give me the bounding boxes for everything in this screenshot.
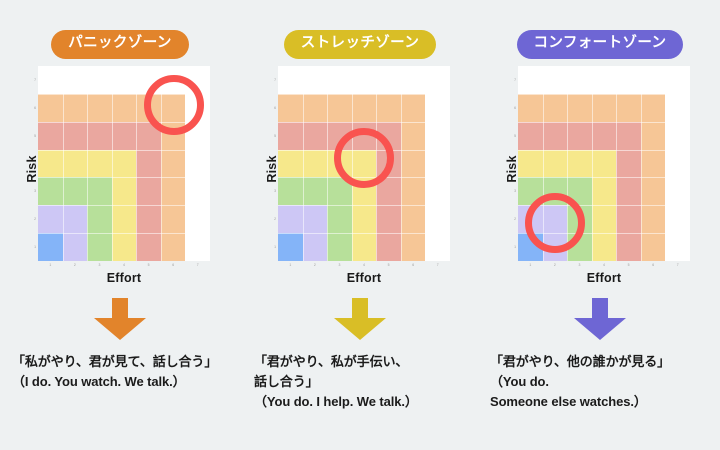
badge-row-comfort: コンフォートゾーン xyxy=(480,30,720,59)
y-axis-ticks: 1234567 xyxy=(504,66,517,261)
arrow-panic xyxy=(0,298,240,340)
x-tick-label: 1 xyxy=(529,263,531,267)
panel-comfort: コンフォートゾーン Risk 1234567 1234567 Effort 「君… xyxy=(480,0,720,450)
infographic-board: パニックゾーン Risk 1234567 1234567 Effort 「私がや… xyxy=(0,0,720,450)
x-tick-label: 7 xyxy=(677,263,679,267)
x-tick-label: 6 xyxy=(172,263,174,267)
x-tick-label: 7 xyxy=(197,263,199,267)
gridline-horizontal xyxy=(518,177,690,178)
gridline-vertical xyxy=(63,66,64,261)
zone-band-blue xyxy=(278,233,303,261)
zone-band-blue xyxy=(38,233,63,261)
y-tick-label: 1 xyxy=(514,245,516,249)
x-tick-label: 3 xyxy=(98,263,100,267)
gridline-vertical xyxy=(303,66,304,261)
down-arrow-icon xyxy=(333,298,387,340)
down-arrow-icon xyxy=(93,298,147,340)
plot-area-stretch xyxy=(278,66,450,261)
gridline-horizontal xyxy=(38,233,210,234)
gridline-vertical xyxy=(592,66,593,261)
panel-panic: パニックゾーン Risk 1234567 1234567 Effort 「私がや… xyxy=(0,0,240,450)
y-tick-label: 5 xyxy=(514,134,516,138)
badge-row-panic: パニックゾーン xyxy=(0,30,240,59)
x-tick-label: 1 xyxy=(289,263,291,267)
x-tick-label: 2 xyxy=(74,263,76,267)
badge-row-stretch: ストレッチゾーン xyxy=(240,30,480,59)
x-axis-label: Effort xyxy=(518,271,690,285)
gridline-horizontal xyxy=(38,150,210,151)
chart-stretch: Risk 1234567 1234567 Effort xyxy=(240,66,480,291)
y-tick-label: 3 xyxy=(34,189,36,193)
x-axis-label: Effort xyxy=(38,271,210,285)
zone-badge-panic: パニックゾーン xyxy=(51,30,189,59)
y-tick-label: 6 xyxy=(514,106,516,110)
x-axis-label: Effort xyxy=(278,271,450,285)
gridline-vertical xyxy=(401,66,402,261)
y-tick-label: 4 xyxy=(274,162,276,166)
x-tick-label: 4 xyxy=(363,263,365,267)
arrow-stretch xyxy=(240,298,480,340)
gridline-vertical xyxy=(136,66,137,261)
y-tick-label: 7 xyxy=(274,78,276,82)
y-tick-label: 6 xyxy=(274,106,276,110)
x-tick-label: 5 xyxy=(148,263,150,267)
caption-stretch: 「君がやり、私が手伝い、 話し合う」 （You do. I help. We t… xyxy=(240,352,480,411)
x-tick-label: 3 xyxy=(578,263,580,267)
y-tick-label: 6 xyxy=(34,106,36,110)
gridline-horizontal xyxy=(278,122,450,123)
zone-badge-stretch: ストレッチゾーン xyxy=(284,30,436,59)
chart-panic: Risk 1234567 1234567 Effort xyxy=(0,66,240,291)
arrow-comfort xyxy=(480,298,720,340)
gridline-horizontal xyxy=(38,205,210,206)
focus-ring-marker xyxy=(525,193,585,253)
focus-ring-marker xyxy=(334,128,394,188)
gridline-vertical xyxy=(641,66,642,261)
x-tick-label: 2 xyxy=(554,263,556,267)
y-tick-label: 5 xyxy=(34,134,36,138)
y-tick-label: 7 xyxy=(514,78,516,82)
down-arrow-icon xyxy=(573,298,627,340)
y-tick-label: 1 xyxy=(34,245,36,249)
y-tick-label: 2 xyxy=(514,217,516,221)
gridline-horizontal xyxy=(278,205,450,206)
gridline-horizontal xyxy=(278,94,450,95)
x-tick-label: 7 xyxy=(437,263,439,267)
gridline-vertical xyxy=(112,66,113,261)
gridline-vertical xyxy=(665,66,666,261)
zone-badge-comfort: コンフォートゾーン xyxy=(517,30,684,59)
y-tick-label: 2 xyxy=(34,217,36,221)
gridline-horizontal xyxy=(278,233,450,234)
y-axis-ticks: 1234567 xyxy=(24,66,37,261)
plot-area-comfort xyxy=(518,66,690,261)
x-tick-label: 6 xyxy=(652,263,654,267)
y-tick-label: 5 xyxy=(274,134,276,138)
x-tick-label: 4 xyxy=(603,263,605,267)
focus-ring-marker xyxy=(144,75,204,135)
caption-panic: 「私がやり、君が見て、話し合う」 （I do. You watch. We ta… xyxy=(0,352,240,392)
caption-comfort: 「君がやり、他の誰かが見る」 （You do. Someone else wat… xyxy=(480,352,720,411)
y-tick-label: 7 xyxy=(34,78,36,82)
x-tick-label: 5 xyxy=(628,263,630,267)
y-tick-label: 4 xyxy=(34,162,36,166)
y-axis-ticks: 1234567 xyxy=(264,66,277,261)
y-tick-label: 3 xyxy=(274,189,276,193)
gridline-horizontal xyxy=(518,94,690,95)
gridline-vertical xyxy=(327,66,328,261)
y-tick-label: 4 xyxy=(514,162,516,166)
gridline-horizontal xyxy=(518,122,690,123)
panel-stretch: ストレッチゾーン Risk 1234567 1234567 Effort 「君が… xyxy=(240,0,480,450)
x-tick-label: 4 xyxy=(123,263,125,267)
gridline-vertical xyxy=(616,66,617,261)
gridline-horizontal xyxy=(518,150,690,151)
y-tick-label: 2 xyxy=(274,217,276,221)
gridline-vertical xyxy=(87,66,88,261)
x-tick-label: 5 xyxy=(388,263,390,267)
plot-area-panic xyxy=(38,66,210,261)
x-tick-label: 3 xyxy=(338,263,340,267)
x-tick-label: 1 xyxy=(49,263,51,267)
chart-comfort: Risk 1234567 1234567 Effort xyxy=(480,66,720,291)
y-tick-label: 3 xyxy=(514,189,516,193)
x-tick-label: 2 xyxy=(314,263,316,267)
gridline-horizontal xyxy=(38,177,210,178)
y-tick-label: 1 xyxy=(274,245,276,249)
gridline-vertical xyxy=(425,66,426,261)
x-tick-label: 6 xyxy=(412,263,414,267)
